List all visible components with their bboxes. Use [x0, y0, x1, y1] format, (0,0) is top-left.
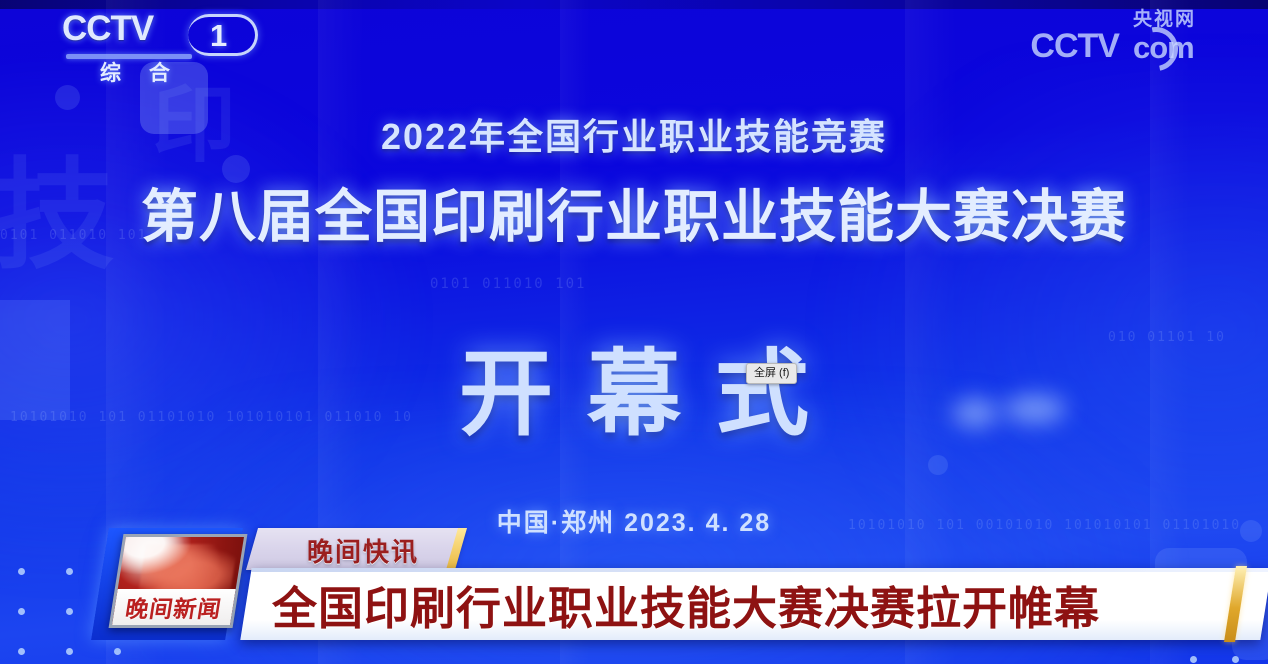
watermark-cn-text: 央视网	[1133, 10, 1196, 30]
background-square	[55, 85, 80, 110]
top-dark-band	[0, 0, 1268, 9]
channel-subtitle: 综 合	[100, 57, 181, 87]
globe-icon: 晚间新闻	[112, 537, 244, 625]
cctv-com-watermark: CCTV 央视网 com	[1030, 10, 1196, 62]
stage-title-line-2: 第八届全国印刷行业职业技能大赛决赛	[0, 171, 1268, 253]
channel-logo-cctv1: CCTV 1 综 合	[62, 10, 262, 82]
program-logo-frame: 晚间新闻	[109, 534, 248, 628]
watermark-cctv-text: CCTV	[1030, 29, 1119, 63]
stage-headline-ceremony: 开幕式	[0, 318, 1268, 454]
channel-number: 1	[210, 18, 227, 54]
program-logo-label: 晚间新闻	[112, 589, 236, 625]
news-headline: 全国印刷行业职业技能大赛决赛拉开帷幕	[272, 572, 1236, 636]
background-square	[928, 455, 948, 475]
channel-number-badge: 1	[188, 14, 258, 56]
stage-title-line-1: 2022年全国行业职业技能竞赛	[0, 108, 1268, 160]
globe-highlight	[112, 537, 201, 579]
fullscreen-tooltip: 全屏 (f)	[746, 363, 797, 384]
background-binary-text: 0101 011010 101	[430, 276, 586, 292]
segment-tag-label: 晚间快讯	[270, 531, 456, 569]
stage-title-block: 2022年全国行业职业技能竞赛 第八届全国印刷行业职业技能大赛决赛	[0, 108, 1268, 253]
video-frame: 技 印 0101 011010 101 0101 011010 101 010 …	[0, 0, 1268, 664]
